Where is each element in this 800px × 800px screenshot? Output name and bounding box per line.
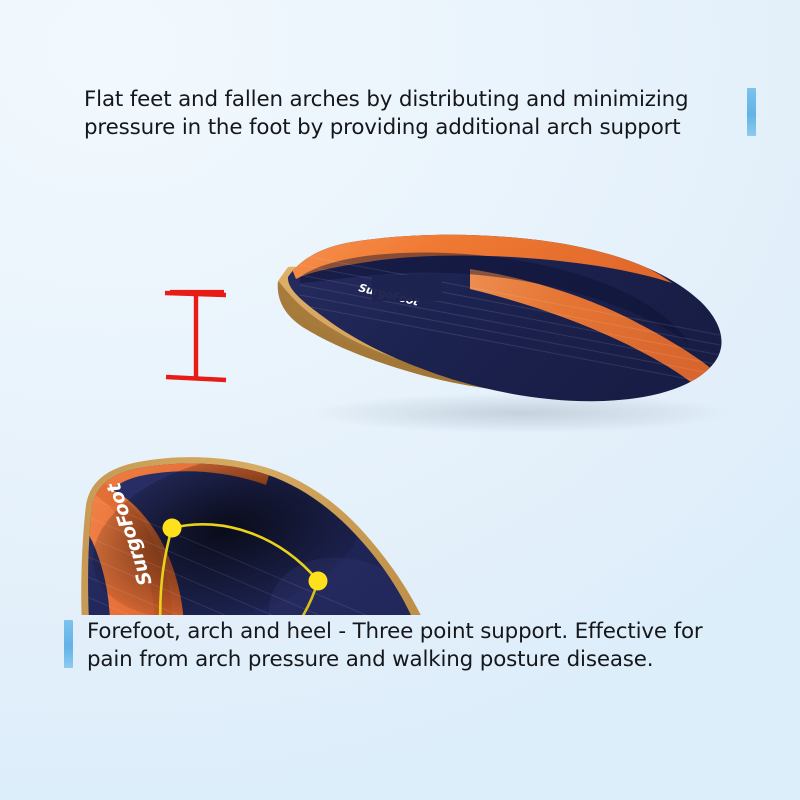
top-copy-block: Flat feet and fallen arches by distribut… (84, 86, 756, 142)
top-copy-text: Flat feet and fallen arches by distribut… (84, 86, 747, 142)
bottom-accent-bar (64, 620, 73, 668)
support-point-arch (163, 519, 182, 538)
support-point-forefoot (309, 572, 328, 591)
product-photo-area: SurgoFoot (0, 185, 800, 615)
bottom-copy-block: Forefoot, arch and heel - Three point su… (64, 618, 754, 674)
product-feature-graphic: Flat feet and fallen arches by distribut… (0, 0, 800, 800)
rear-insole-logo-mask (372, 275, 442, 301)
front-insole: SurgoFoot (48, 428, 460, 615)
arch-indicator-cap-bottom (166, 377, 226, 380)
arch-height-indicator-group (165, 293, 226, 380)
top-accent-bar (747, 88, 756, 136)
arch-indicator-cap-top (165, 293, 226, 295)
rear-insole-shadow (310, 393, 730, 433)
bottom-copy-text: Forefoot, arch and heel - Three point su… (73, 618, 754, 674)
rear-insole: SurgoFoot (165, 231, 722, 401)
